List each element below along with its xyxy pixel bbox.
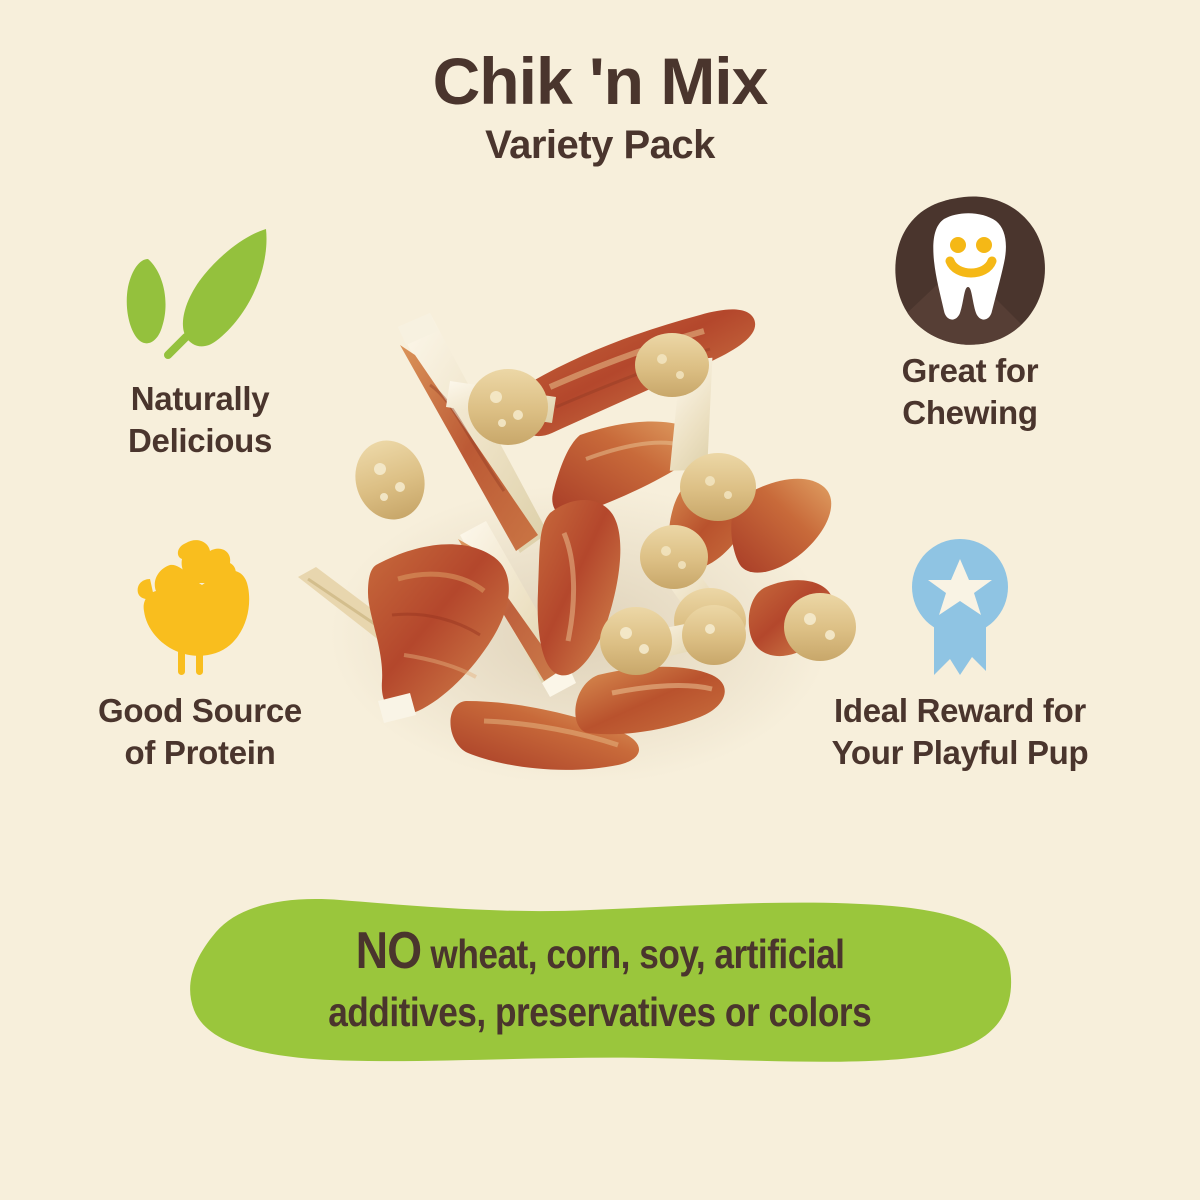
feature-icon-wrap — [30, 218, 370, 378]
feature-caption-line2: Your Playful Pup — [790, 732, 1130, 774]
feature-good-source-of-protein: Good Source of Protein — [30, 530, 370, 774]
feature-icon-wrap — [800, 190, 1140, 350]
leaves-icon — [120, 223, 280, 373]
banner-blob-shape — [180, 888, 1020, 1068]
award-ribbon-icon — [900, 535, 1020, 685]
page-title: Chik 'n Mix — [0, 48, 1200, 115]
feature-caption-line1: Naturally — [30, 378, 370, 420]
feature-great-for-chewing: Great for Chewing — [800, 190, 1140, 434]
chicken-icon — [130, 535, 270, 685]
feature-caption-line1: Good Source — [30, 690, 370, 732]
infographic-canvas: Chik 'n Mix Variety Pack — [0, 0, 1200, 1200]
feature-caption: Naturally Delicious — [30, 378, 370, 462]
no-ingredients-banner: NO wheat, corn, soy, artificial additive… — [180, 888, 1020, 1068]
feature-caption-line1: Ideal Reward for — [790, 690, 1130, 732]
feature-naturally-delicious: Naturally Delicious — [30, 218, 370, 462]
header: Chik 'n Mix Variety Pack — [0, 48, 1200, 167]
feature-caption-line2: Chewing — [800, 392, 1140, 434]
feature-caption-line1: Great for — [800, 350, 1140, 392]
feature-caption: Great for Chewing — [800, 350, 1140, 434]
feature-caption-line2: Delicious — [30, 420, 370, 462]
smiling-tooth-icon — [890, 193, 1050, 348]
feature-icon-wrap — [30, 530, 370, 690]
feature-caption: Good Source of Protein — [30, 690, 370, 774]
feature-ideal-reward: Ideal Reward for Your Playful Pup — [790, 530, 1130, 774]
feature-caption: Ideal Reward for Your Playful Pup — [790, 690, 1130, 774]
feature-caption-line2: of Protein — [30, 732, 370, 774]
page-subtitle: Variety Pack — [0, 123, 1200, 167]
feature-icon-wrap — [790, 530, 1130, 690]
